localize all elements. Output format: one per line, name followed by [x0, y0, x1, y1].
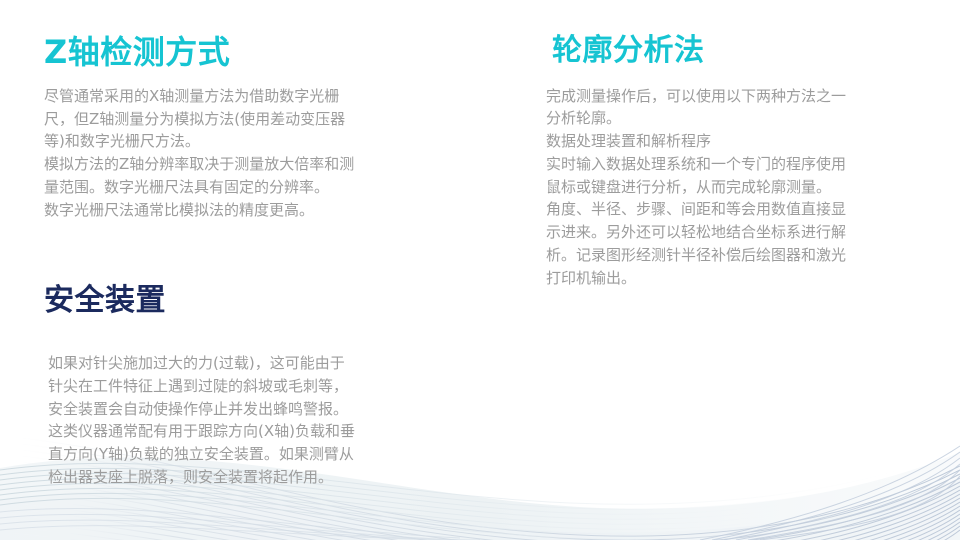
z-axis-section-heading: Z轴检测方式	[44, 34, 464, 71]
safety-section-heading: 安全装置	[44, 284, 464, 319]
outline-analysis-body-block: 完成测量操作后，可以使用以下两种方法之一 分析轮廓。 数据处理装置和解析程序 实…	[546, 85, 946, 290]
slide-canvas: Z轴检测方式 尽管通常采用的X轴测量方法为借助数字光栅 尺，但Z轴测量分为模拟方…	[0, 0, 960, 540]
safety-section-body-block: 如果对针尖施加过大的力(过载)，这可能由于 针尖在工件特征上遇到过陡的斜坡或毛刺…	[48, 352, 464, 489]
outline-analysis-heading-block: 轮廓分析法	[552, 34, 946, 69]
right-content-column: 轮廓分析法 完成测量操作后，可以使用以下两种方法之一 分析轮廓。 数据处理装置和…	[546, 34, 946, 290]
z-axis-section-body-text: 尽管通常采用的X轴测量方法为借助数字光栅 尺，但Z轴测量分为模拟方法(使用差动变…	[44, 85, 464, 222]
z-axis-section-body-block: 尽管通常采用的X轴测量方法为借助数字光栅 尺，但Z轴测量分为模拟方法(使用差动变…	[44, 85, 464, 222]
z-axis-section-heading-block: Z轴检测方式	[44, 34, 464, 71]
outline-analysis-body-text: 完成测量操作后，可以使用以下两种方法之一 分析轮廓。 数据处理装置和解析程序 实…	[546, 85, 946, 290]
left-content-column: Z轴检测方式 尽管通常采用的X轴测量方法为借助数字光栅 尺，但Z轴测量分为模拟方…	[44, 34, 464, 489]
outline-analysis-heading: 轮廓分析法	[552, 34, 946, 69]
safety-section-body-text: 如果对针尖施加过大的力(过载)，这可能由于 针尖在工件特征上遇到过陡的斜坡或毛刺…	[48, 352, 464, 489]
safety-section-heading-block: 安全装置	[44, 284, 464, 319]
